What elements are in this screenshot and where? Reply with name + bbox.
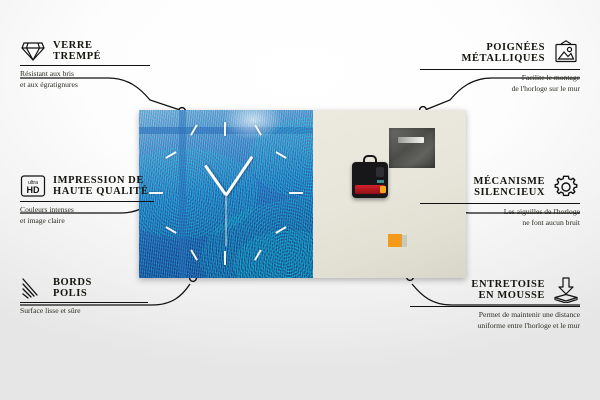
feature-desc-line1: Permet de maintenir une distance bbox=[410, 310, 580, 321]
feature-impression-haute-qualite: ultra HD IMPRESSION DE HAUTE QUALITÉ Cou… bbox=[20, 174, 154, 227]
feature-desc-line1: Les aiguilles de l'horloge bbox=[420, 207, 580, 218]
feature-title-line1: VERRE bbox=[53, 40, 101, 51]
feature-desc-line1: Surface lisse et sûre bbox=[20, 306, 148, 317]
polished-edges-icon bbox=[20, 277, 46, 299]
clock-tick bbox=[224, 251, 226, 265]
product-photo bbox=[139, 110, 466, 278]
feature-title-line1: IMPRESSION DE bbox=[53, 175, 149, 186]
mechanism-hook bbox=[363, 155, 377, 164]
clock-tick bbox=[254, 249, 262, 260]
feature-rule bbox=[20, 65, 150, 66]
clock-tick bbox=[289, 192, 303, 194]
feature-rule bbox=[420, 203, 580, 204]
feature-desc-line2: uniforme entre l'horloge et le mur bbox=[410, 321, 580, 332]
feature-title-line2: MÉTALLIQUES bbox=[462, 53, 545, 64]
clock-tick bbox=[275, 226, 286, 234]
feature-bords-polis: BORDS POLIS Surface lisse et sûre bbox=[20, 277, 148, 317]
feature-rule bbox=[420, 69, 580, 70]
feature-desc-line2: et aux égratignures bbox=[20, 80, 150, 91]
clock-second-hand bbox=[226, 195, 227, 247]
feature-title-line1: ENTRETOISE bbox=[471, 279, 545, 290]
picture-hanger-icon bbox=[552, 40, 580, 66]
clock-front-glass-panel bbox=[139, 110, 313, 278]
feature-desc-line2: de l'horloge sur le mur bbox=[420, 84, 580, 95]
clock-hour-hand bbox=[204, 164, 227, 195]
feature-desc-line1: Facilite le montage bbox=[420, 73, 580, 84]
moire-pattern bbox=[191, 183, 313, 278]
battery bbox=[355, 185, 385, 194]
foam-spacer bbox=[388, 234, 402, 247]
feature-title-line2: SILENCIEUX bbox=[474, 187, 545, 198]
feature-title-line2: HAUTE QUALITÉ bbox=[53, 186, 149, 197]
clock-tick bbox=[190, 124, 198, 135]
clock-tick bbox=[165, 226, 176, 234]
feature-title-line2: TREMPÉ bbox=[53, 51, 101, 62]
feature-desc-line1: Couleurs intenses bbox=[20, 205, 154, 216]
clock-tick bbox=[165, 151, 176, 159]
arrow-down-layer-icon bbox=[552, 277, 580, 303]
svg-text:HD: HD bbox=[27, 185, 40, 195]
feature-title-line2: EN MOUSSE bbox=[478, 290, 545, 301]
feature-title-line1: BORDS bbox=[53, 277, 92, 288]
mechanism-dial bbox=[376, 167, 384, 177]
feature-verre-trempe: VERRE TREMPÉ Résistant aux bris et aux é… bbox=[20, 40, 150, 91]
mechanism-contact bbox=[377, 180, 384, 183]
gear-icon bbox=[552, 174, 580, 200]
clock-minute-hand bbox=[225, 155, 254, 196]
feature-poignees-metalliques: POIGNÉES MÉTALLIQUES Facilite le montage… bbox=[420, 40, 580, 95]
moire-pattern bbox=[234, 230, 313, 278]
infographic-stage: VERRE TREMPÉ Résistant aux bris et aux é… bbox=[0, 0, 600, 400]
ultra-hd-icon: ultra HD bbox=[20, 174, 46, 198]
clock-mechanism bbox=[352, 162, 388, 198]
feature-desc-line1: Résistant aux bris bbox=[20, 69, 150, 80]
feature-title-line2: POLIS bbox=[53, 288, 92, 299]
feature-entretoise-en-mousse: ENTRETOISE EN MOUSSE Permet de maintenir… bbox=[410, 277, 580, 332]
feature-title-line1: POIGNÉES bbox=[486, 42, 545, 53]
clock-tick bbox=[190, 249, 198, 260]
diamond-icon bbox=[20, 40, 46, 62]
clock-tick bbox=[224, 122, 226, 136]
feature-rule bbox=[410, 306, 580, 307]
feature-rule bbox=[20, 201, 154, 202]
feature-mecanisme-silencieux: MÉCANISME SILENCIEUX Les aiguilles de l'… bbox=[420, 174, 580, 229]
clock-tick bbox=[275, 151, 286, 159]
metal-hanger-plate bbox=[389, 128, 435, 168]
feature-desc-line2: ne font aucun bruit bbox=[420, 218, 580, 229]
hanger-slot bbox=[398, 137, 424, 143]
feature-desc-line2: et image claire bbox=[20, 216, 154, 227]
feature-title-line1: MÉCANISME bbox=[474, 176, 545, 187]
glass-highlight bbox=[223, 110, 283, 140]
feature-rule bbox=[20, 302, 148, 303]
